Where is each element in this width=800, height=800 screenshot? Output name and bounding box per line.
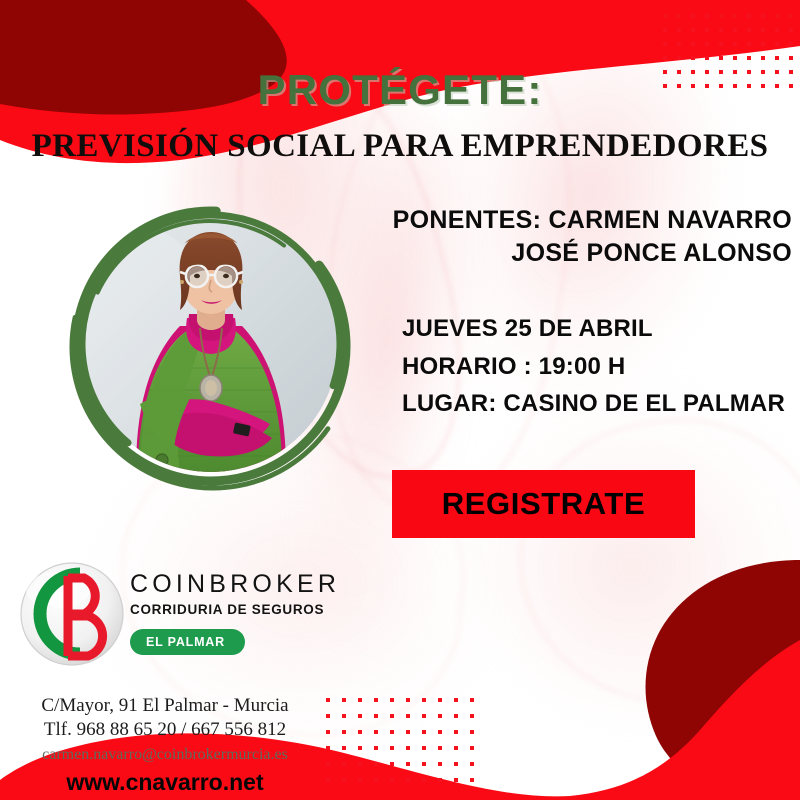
decorative-dot (663, 28, 667, 32)
decorative-dot (747, 42, 751, 46)
decorative-dot (342, 762, 346, 766)
decorative-dot (454, 746, 458, 750)
brand-tagline: CORRIDURIA DE SEGUROS (130, 603, 328, 617)
decorative-dot (663, 14, 667, 18)
decorative-dot (438, 714, 442, 718)
decorative-dot (406, 762, 410, 766)
decorative-dot (719, 42, 723, 46)
decorative-dot (406, 730, 410, 734)
decorative-dot (358, 746, 362, 750)
decorative-dot (358, 698, 362, 702)
decorative-dot (390, 730, 394, 734)
decorative-dot (422, 746, 426, 750)
decorative-dot (342, 746, 346, 750)
speaker-portrait (62, 196, 360, 494)
decorative-dot (733, 28, 737, 32)
decorative-dot (422, 762, 426, 766)
event-poster: PROTÉGETE: PREVISIÓN SOCIAL PARA EMPREND… (0, 0, 800, 800)
decorative-dot (390, 746, 394, 750)
decorative-dot (789, 28, 793, 32)
brand-wordmark: COINBROKER CORRIDURIA DE SEGUROS EL PALM… (130, 572, 328, 655)
decorative-dot (705, 14, 709, 18)
decorative-dot (691, 28, 695, 32)
brand-logo: COINBROKER CORRIDURIA DE SEGUROS EL PALM… (18, 560, 328, 675)
decorative-dot (438, 762, 442, 766)
decorative-dot (374, 778, 378, 782)
decorative-dot (374, 698, 378, 702)
decorative-dot (775, 42, 779, 46)
dot-grid-bottom (326, 698, 478, 790)
decorative-dot (719, 14, 723, 18)
background-smoke-texture (470, 380, 800, 720)
decorative-dot (747, 14, 751, 18)
decorative-dot (342, 714, 346, 718)
decorative-dot (342, 730, 346, 734)
decorative-dot (775, 14, 779, 18)
contact-email[interactable]: carmen.navarro@coinbrokermurcia.es (0, 743, 330, 767)
decorative-dot (374, 730, 378, 734)
decorative-dot (374, 762, 378, 766)
brand-name: COINBROKER (130, 572, 328, 597)
decorative-dot (761, 56, 765, 60)
decorative-dot (470, 778, 474, 782)
decorative-dot (470, 698, 474, 702)
decorative-dot (422, 730, 426, 734)
decorative-dot (789, 56, 793, 60)
decorative-dot (677, 42, 681, 46)
decorative-dot (454, 698, 458, 702)
decorative-dot (733, 42, 737, 46)
register-button[interactable]: REGISTRATE (392, 470, 695, 538)
decorative-dot (677, 28, 681, 32)
decorative-dot (705, 28, 709, 32)
decorative-dot (691, 56, 695, 60)
decorative-dot (761, 14, 765, 18)
decorative-dot (358, 714, 362, 718)
decorative-dot (406, 746, 410, 750)
contact-block: C/Mayor, 91 El Palmar - Murcia Tlf. 968 … (0, 694, 330, 795)
decorative-dot (374, 746, 378, 750)
decorative-dot (705, 56, 709, 60)
contact-website[interactable]: www.cnavarro.net (0, 769, 330, 795)
decorative-dot (358, 778, 362, 782)
decorative-dot (470, 762, 474, 766)
decorative-dot (789, 42, 793, 46)
decorative-dot (358, 762, 362, 766)
decorative-dot (775, 56, 779, 60)
decorative-dot (406, 778, 410, 782)
decorative-dot (470, 746, 474, 750)
decorative-dot (358, 730, 362, 734)
decorative-dot (470, 714, 474, 718)
decorative-dot (691, 42, 695, 46)
decorative-dot (342, 778, 346, 782)
decorative-dot (733, 14, 737, 18)
speakers-line-1: PONENTES: CARMEN NAVARRO (330, 204, 792, 237)
decorative-dot (719, 56, 723, 60)
speakers-line-2: JOSÉ PONCE ALONSO (330, 237, 792, 270)
decorative-dot (719, 28, 723, 32)
coinbroker-logo-icon (18, 560, 126, 668)
background-wisp (502, 400, 800, 724)
decorative-dot (663, 56, 667, 60)
event-date: JUEVES 25 DE ABRIL (402, 310, 794, 348)
decorative-dot (663, 42, 667, 46)
decorative-dot (406, 714, 410, 718)
branch-badge: EL PALMAR (130, 629, 245, 655)
speakers-block: PONENTES: CARMEN NAVARRO JOSÉ PONCE ALON… (330, 204, 792, 270)
decorative-dot (761, 28, 765, 32)
decorative-dot (438, 778, 442, 782)
decorative-dot (438, 698, 442, 702)
decorative-dot (747, 56, 751, 60)
decorative-dot (454, 730, 458, 734)
page-title: PROTÉGETE: (0, 66, 800, 114)
decorative-dot (454, 762, 458, 766)
page-subtitle: PREVISIÓN SOCIAL PARA EMPRENDEDORES (0, 128, 800, 165)
decorative-dot (789, 14, 793, 18)
decorative-dot (733, 56, 737, 60)
decorative-dot (454, 714, 458, 718)
contact-phone: Tlf. 968 88 65 20 / 667 556 812 (0, 718, 330, 742)
decorative-dot (422, 714, 426, 718)
event-venue: LUGAR: CASINO DE EL PALMAR (402, 385, 794, 423)
decorative-dot (422, 778, 426, 782)
decorative-dot (438, 746, 442, 750)
decorative-dot (470, 730, 474, 734)
decorative-dot (438, 730, 442, 734)
decorative-dot (342, 698, 346, 702)
decorative-dot (677, 56, 681, 60)
decorative-dot (454, 778, 458, 782)
decorative-dot (390, 762, 394, 766)
decorative-dot (406, 698, 410, 702)
portrait-ring-frame (62, 196, 360, 494)
contact-address: C/Mayor, 91 El Palmar - Murcia (0, 694, 330, 718)
decorative-dot (705, 42, 709, 46)
decorative-dot (775, 28, 779, 32)
decorative-dot (422, 698, 426, 702)
decorative-dot (747, 28, 751, 32)
decorative-dot (374, 714, 378, 718)
decorative-dot (691, 14, 695, 18)
decorative-dot (761, 42, 765, 46)
event-details-block: JUEVES 25 DE ABRIL HORARIO : 19:00 H LUG… (402, 310, 794, 423)
decorative-dot (677, 14, 681, 18)
decorative-dot (390, 714, 394, 718)
event-time: HORARIO : 19:00 H (402, 348, 794, 386)
decorative-dot (390, 778, 394, 782)
decorative-dot (390, 698, 394, 702)
